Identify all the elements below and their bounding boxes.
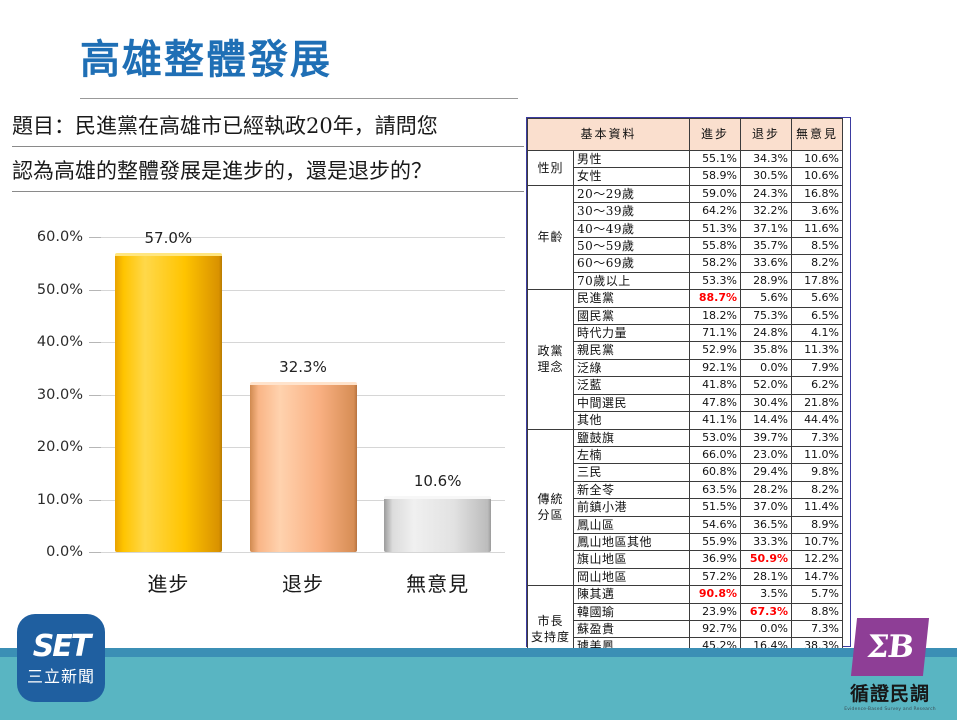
table-row: 60～69歲58.2%33.6%8.2% — [528, 255, 843, 272]
x-axis-category-label: 退步 — [240, 568, 367, 597]
footer-bar — [0, 657, 957, 720]
table-cell-value: 53.3% — [690, 272, 741, 289]
table-header-regress: 退步 — [741, 119, 792, 151]
table-cell-value: 55.8% — [690, 238, 741, 255]
table-row-label: 30～39歲 — [574, 203, 690, 220]
table-row-label: 陳其邁 — [574, 586, 690, 603]
table-row: 旗山地區36.9%50.9%12.2% — [528, 551, 843, 568]
table-cell-value: 66.0% — [690, 446, 741, 463]
table-row: 40～49歲51.3%37.1%11.6% — [528, 220, 843, 237]
table-cell-value: 10.6% — [792, 151, 843, 168]
footer-accent-bar — [0, 648, 957, 657]
table-row-label: 男性 — [574, 151, 690, 168]
table-cell-value: 51.3% — [690, 220, 741, 237]
y-axis-tick — [89, 500, 101, 501]
table-row-label: 民進黨 — [574, 290, 690, 307]
chart-plot-area: 0.0%10.0%20.0%30.0%40.0%50.0%60.0%57.0%3… — [101, 237, 505, 552]
table-cell-value: 6.2% — [792, 377, 843, 394]
table-row: 30～39歲64.2%32.2%3.6% — [528, 203, 843, 220]
table-row: 市長支持度陳其邁90.8%3.5%5.7% — [528, 586, 843, 603]
table-row: 泛藍41.8%52.0%6.2% — [528, 377, 843, 394]
table-row: 新全苓63.5%28.2%8.2% — [528, 481, 843, 498]
table-cell-value: 36.5% — [741, 516, 792, 533]
table-row: 傳統分區鹽鼓旗53.0%39.7%7.3% — [528, 429, 843, 446]
table-cell-value: 30.5% — [741, 168, 792, 185]
table-group-label: 政黨理念 — [528, 290, 574, 429]
table-cell-value: 10.7% — [792, 533, 843, 550]
table-body: 性別男性55.1%34.3%10.6%女性58.9%30.5%10.6%年齡20… — [528, 151, 843, 673]
table-cell-value: 24.8% — [741, 325, 792, 342]
table-cell-value: 54.6% — [690, 516, 741, 533]
table-cell-value: 39.7% — [741, 429, 792, 446]
table-cell-value: 12.2% — [792, 551, 843, 568]
table-cell-value: 51.5% — [690, 499, 741, 516]
table-cell-value: 32.2% — [741, 203, 792, 220]
table-cell-value: 37.1% — [741, 220, 792, 237]
table-cell-value: 52.9% — [690, 342, 741, 359]
table-cell-value: 57.2% — [690, 568, 741, 585]
table-cell-value: 14.7% — [792, 568, 843, 585]
table-cell-value: 6.5% — [792, 307, 843, 324]
table-cell-value: 16.8% — [792, 185, 843, 202]
y-axis-tick — [89, 290, 101, 291]
table-row-label: 泛藍 — [574, 377, 690, 394]
table-cell-value: 28.2% — [741, 481, 792, 498]
table-cell-value: 3.6% — [792, 203, 843, 220]
y-axis-label: 40.0% — [0, 334, 83, 350]
table-cell-value: 11.6% — [792, 220, 843, 237]
table-row: 前鎮小港51.5%37.0%11.4% — [528, 499, 843, 516]
title-divider — [80, 98, 518, 99]
table-row: 女性58.9%30.5%10.6% — [528, 168, 843, 185]
table-cell-value: 8.5% — [792, 238, 843, 255]
table-cell-value: 11.0% — [792, 446, 843, 463]
table-row-label: 中間選民 — [574, 394, 690, 411]
y-axis-label: 30.0% — [0, 387, 83, 403]
table-cell-value: 58.2% — [690, 255, 741, 272]
table-row-label: 鹽鼓旗 — [574, 429, 690, 446]
table-group-label: 傳統分區 — [528, 429, 574, 586]
table-cell-value: 88.7% — [690, 290, 741, 307]
table-row-label: 新全苓 — [574, 481, 690, 498]
table-cell-value: 18.2% — [690, 307, 741, 324]
table-header-basic: 基本資料 — [528, 119, 690, 151]
poll-logo-label: 循證民調 — [837, 679, 943, 706]
table-row-label: 60～69歲 — [574, 255, 690, 272]
table-cell-value: 3.5% — [741, 586, 792, 603]
table-cell-value: 21.8% — [792, 394, 843, 411]
question-line-2: 認為高雄的整體發展是進步的，還是退步的？ — [12, 153, 524, 192]
table-cell-value: 34.3% — [741, 151, 792, 168]
table-header-progress: 進步 — [690, 119, 741, 151]
table-row: 親民黨52.9%35.8%11.3% — [528, 342, 843, 359]
table-cell-value: 30.4% — [741, 394, 792, 411]
table-cell-value: 14.4% — [741, 412, 792, 429]
table-row: 時代力量71.1%24.8%4.1% — [528, 325, 843, 342]
table-cell-value: 35.8% — [741, 342, 792, 359]
table-row: 鳳山區54.6%36.5%8.9% — [528, 516, 843, 533]
table-row: 50～59歲55.8%35.7%8.5% — [528, 238, 843, 255]
table-row: 中間選民47.8%30.4%21.8% — [528, 394, 843, 411]
table-cell-value: 11.3% — [792, 342, 843, 359]
chart-bar-value-label: 10.6% — [384, 472, 491, 490]
table-cell-value: 92.1% — [690, 359, 741, 376]
y-axis-label: 0.0% — [0, 544, 83, 560]
crosstab-table: 基本資料 進步 退步 無意見 性別男性55.1%34.3%10.6%女性58.9… — [527, 118, 843, 673]
table-row: 性別男性55.1%34.3%10.6% — [528, 151, 843, 168]
set-logo-mark: SET — [33, 632, 90, 662]
table-group-label: 年齡 — [528, 185, 574, 289]
y-axis-tick — [89, 395, 101, 396]
table-cell-value: 9.8% — [792, 464, 843, 481]
table-cell-value: 53.0% — [690, 429, 741, 446]
table-cell-value: 35.7% — [741, 238, 792, 255]
set-logo-label: 三立新聞 — [27, 669, 95, 685]
table-cell-value: 0.0% — [741, 359, 792, 376]
table-cell-value: 29.4% — [741, 464, 792, 481]
table-row: 蘇盈貴92.7%0.0%7.3% — [528, 620, 843, 637]
table-row-label: 鳳山區 — [574, 516, 690, 533]
x-axis-category-label: 進步 — [105, 568, 232, 597]
table-row-label: 50～59歲 — [574, 238, 690, 255]
table-row-label: 70歲以上 — [574, 272, 690, 289]
chart-bar — [115, 253, 222, 552]
table-row-label: 其他 — [574, 412, 690, 429]
table-cell-value: 28.1% — [741, 568, 792, 585]
chart-bar-value-label: 57.0% — [115, 229, 222, 247]
set-news-logo: SET 三立新聞 — [17, 614, 105, 702]
table-head: 基本資料 進步 退步 無意見 — [528, 119, 843, 151]
table-cell-value: 5.7% — [792, 586, 843, 603]
table-cell-value: 17.8% — [792, 272, 843, 289]
table-cell-value: 52.0% — [741, 377, 792, 394]
table-row-label: 泛綠 — [574, 359, 690, 376]
table-row: 其他41.1%14.4%44.4% — [528, 412, 843, 429]
table-cell-value: 37.0% — [741, 499, 792, 516]
table-cell-value: 71.1% — [690, 325, 741, 342]
chart-bar — [384, 496, 491, 552]
table-row-label: 親民黨 — [574, 342, 690, 359]
table-row: 三民60.8%29.4%9.8% — [528, 464, 843, 481]
table-row: 政黨理念民進黨88.7%5.6%5.6% — [528, 290, 843, 307]
chart-bar-group: 57.0% — [115, 237, 222, 552]
table-row-label: 旗山地區 — [574, 551, 690, 568]
table-row-label: 女性 — [574, 168, 690, 185]
table-cell-value: 8.8% — [792, 603, 843, 620]
y-axis-label: 10.0% — [0, 492, 83, 508]
table-cell-value: 55.9% — [690, 533, 741, 550]
table-cell-value: 67.3% — [741, 603, 792, 620]
table-cell-value: 50.9% — [741, 551, 792, 568]
chart-bar — [250, 382, 357, 552]
table-row: 岡山地區57.2%28.1%14.7% — [528, 568, 843, 585]
chart-bar-group: 10.6% — [384, 237, 491, 552]
table-row-label: 國民黨 — [574, 307, 690, 324]
table-row-label: 三民 — [574, 464, 690, 481]
table-cell-value: 33.6% — [741, 255, 792, 272]
y-axis-tick — [89, 237, 101, 238]
table-cell-value: 41.1% — [690, 412, 741, 429]
table-cell-value: 8.2% — [792, 255, 843, 272]
table-cell-value: 0.0% — [741, 620, 792, 637]
chart-bar-group: 32.3% — [250, 237, 357, 552]
page-title: 高雄整體發展 — [80, 38, 332, 82]
table-row-label: 時代力量 — [574, 325, 690, 342]
table-cell-value: 8.2% — [792, 481, 843, 498]
table-cell-value: 8.9% — [792, 516, 843, 533]
table-cell-value: 28.9% — [741, 272, 792, 289]
table-row: 鳳山地區其他55.9%33.3%10.7% — [528, 533, 843, 550]
y-axis-label: 60.0% — [0, 229, 83, 245]
table-cell-value: 24.3% — [741, 185, 792, 202]
table-cell-value: 92.7% — [690, 620, 741, 637]
question-line-1: 題目：民進黨在高雄市已經執政20年，請問您 — [12, 108, 524, 147]
y-axis-label: 50.0% — [0, 282, 83, 298]
table-cell-value: 36.9% — [690, 551, 741, 568]
y-axis-label: 20.0% — [0, 439, 83, 455]
table-group-label: 性別 — [528, 151, 574, 186]
chart-bar-value-label: 32.3% — [250, 358, 357, 376]
table-header-row: 基本資料 進步 退步 無意見 — [528, 119, 843, 151]
table-row-label: 20～29歲 — [574, 185, 690, 202]
table-cell-value: 59.0% — [690, 185, 741, 202]
table-cell-value: 60.8% — [690, 464, 741, 481]
table-cell-value: 5.6% — [792, 290, 843, 307]
x-axis-category-label: 無意見 — [374, 568, 501, 597]
y-axis-tick — [89, 447, 101, 448]
table-row-label: 韓國瑜 — [574, 603, 690, 620]
table-row: 國民黨18.2%75.3%6.5% — [528, 307, 843, 324]
table-cell-value: 63.5% — [690, 481, 741, 498]
poll-logo-mark: ΣB — [851, 618, 929, 676]
table-cell-value: 33.3% — [741, 533, 792, 550]
table-cell-value: 7.3% — [792, 429, 843, 446]
table-cell-value: 90.8% — [690, 586, 741, 603]
table-cell-value: 44.4% — [792, 412, 843, 429]
table-cell-value: 64.2% — [690, 203, 741, 220]
table-cell-value: 7.9% — [792, 359, 843, 376]
y-axis-tick — [89, 342, 101, 343]
question-text: 題目：民進黨在高雄市已經執政20年，請問您 認為高雄的整體發展是進步的，還是退步… — [12, 108, 524, 192]
table-row: 韓國瑜23.9%67.3%8.8% — [528, 603, 843, 620]
table-cell-value: 23.0% — [741, 446, 792, 463]
table-row-label: 鳳山地區其他 — [574, 533, 690, 550]
poll-company-logo: ΣB 循證民調 Evidence-Based Survey and Resear… — [837, 618, 943, 714]
table-cell-value: 5.6% — [741, 290, 792, 307]
table-row-label: 岡山地區 — [574, 568, 690, 585]
table-row: 左楠66.0%23.0%11.0% — [528, 446, 843, 463]
poll-logo-sublabel: Evidence-Based Survey and Research — [837, 707, 943, 712]
table-cell-value: 11.4% — [792, 499, 843, 516]
table-cell-value: 23.9% — [690, 603, 741, 620]
table-row-label: 蘇盈貴 — [574, 620, 690, 637]
y-axis-tick — [89, 552, 101, 553]
table-row: 70歲以上53.3%28.9%17.8% — [528, 272, 843, 289]
table-cell-value: 55.1% — [690, 151, 741, 168]
table-row-label: 40～49歲 — [574, 220, 690, 237]
table-row: 泛綠92.1%0.0%7.9% — [528, 359, 843, 376]
table-cell-value: 7.3% — [792, 620, 843, 637]
table-row: 年齡20～29歲59.0%24.3%16.8% — [528, 185, 843, 202]
table-cell-value: 58.9% — [690, 168, 741, 185]
chart-gridline — [101, 552, 505, 553]
table-row-label: 左楠 — [574, 446, 690, 463]
table-header-noopinion: 無意見 — [792, 119, 843, 151]
table-row-label: 前鎮小港 — [574, 499, 690, 516]
bar-chart: 0.0%10.0%20.0%30.0%40.0%50.0%60.0%57.0%3… — [0, 215, 524, 595]
table-cell-value: 4.1% — [792, 325, 843, 342]
table-cell-value: 75.3% — [741, 307, 792, 324]
table-cell-value: 47.8% — [690, 394, 741, 411]
table-cell-value: 41.8% — [690, 377, 741, 394]
table-cell-value: 10.6% — [792, 168, 843, 185]
